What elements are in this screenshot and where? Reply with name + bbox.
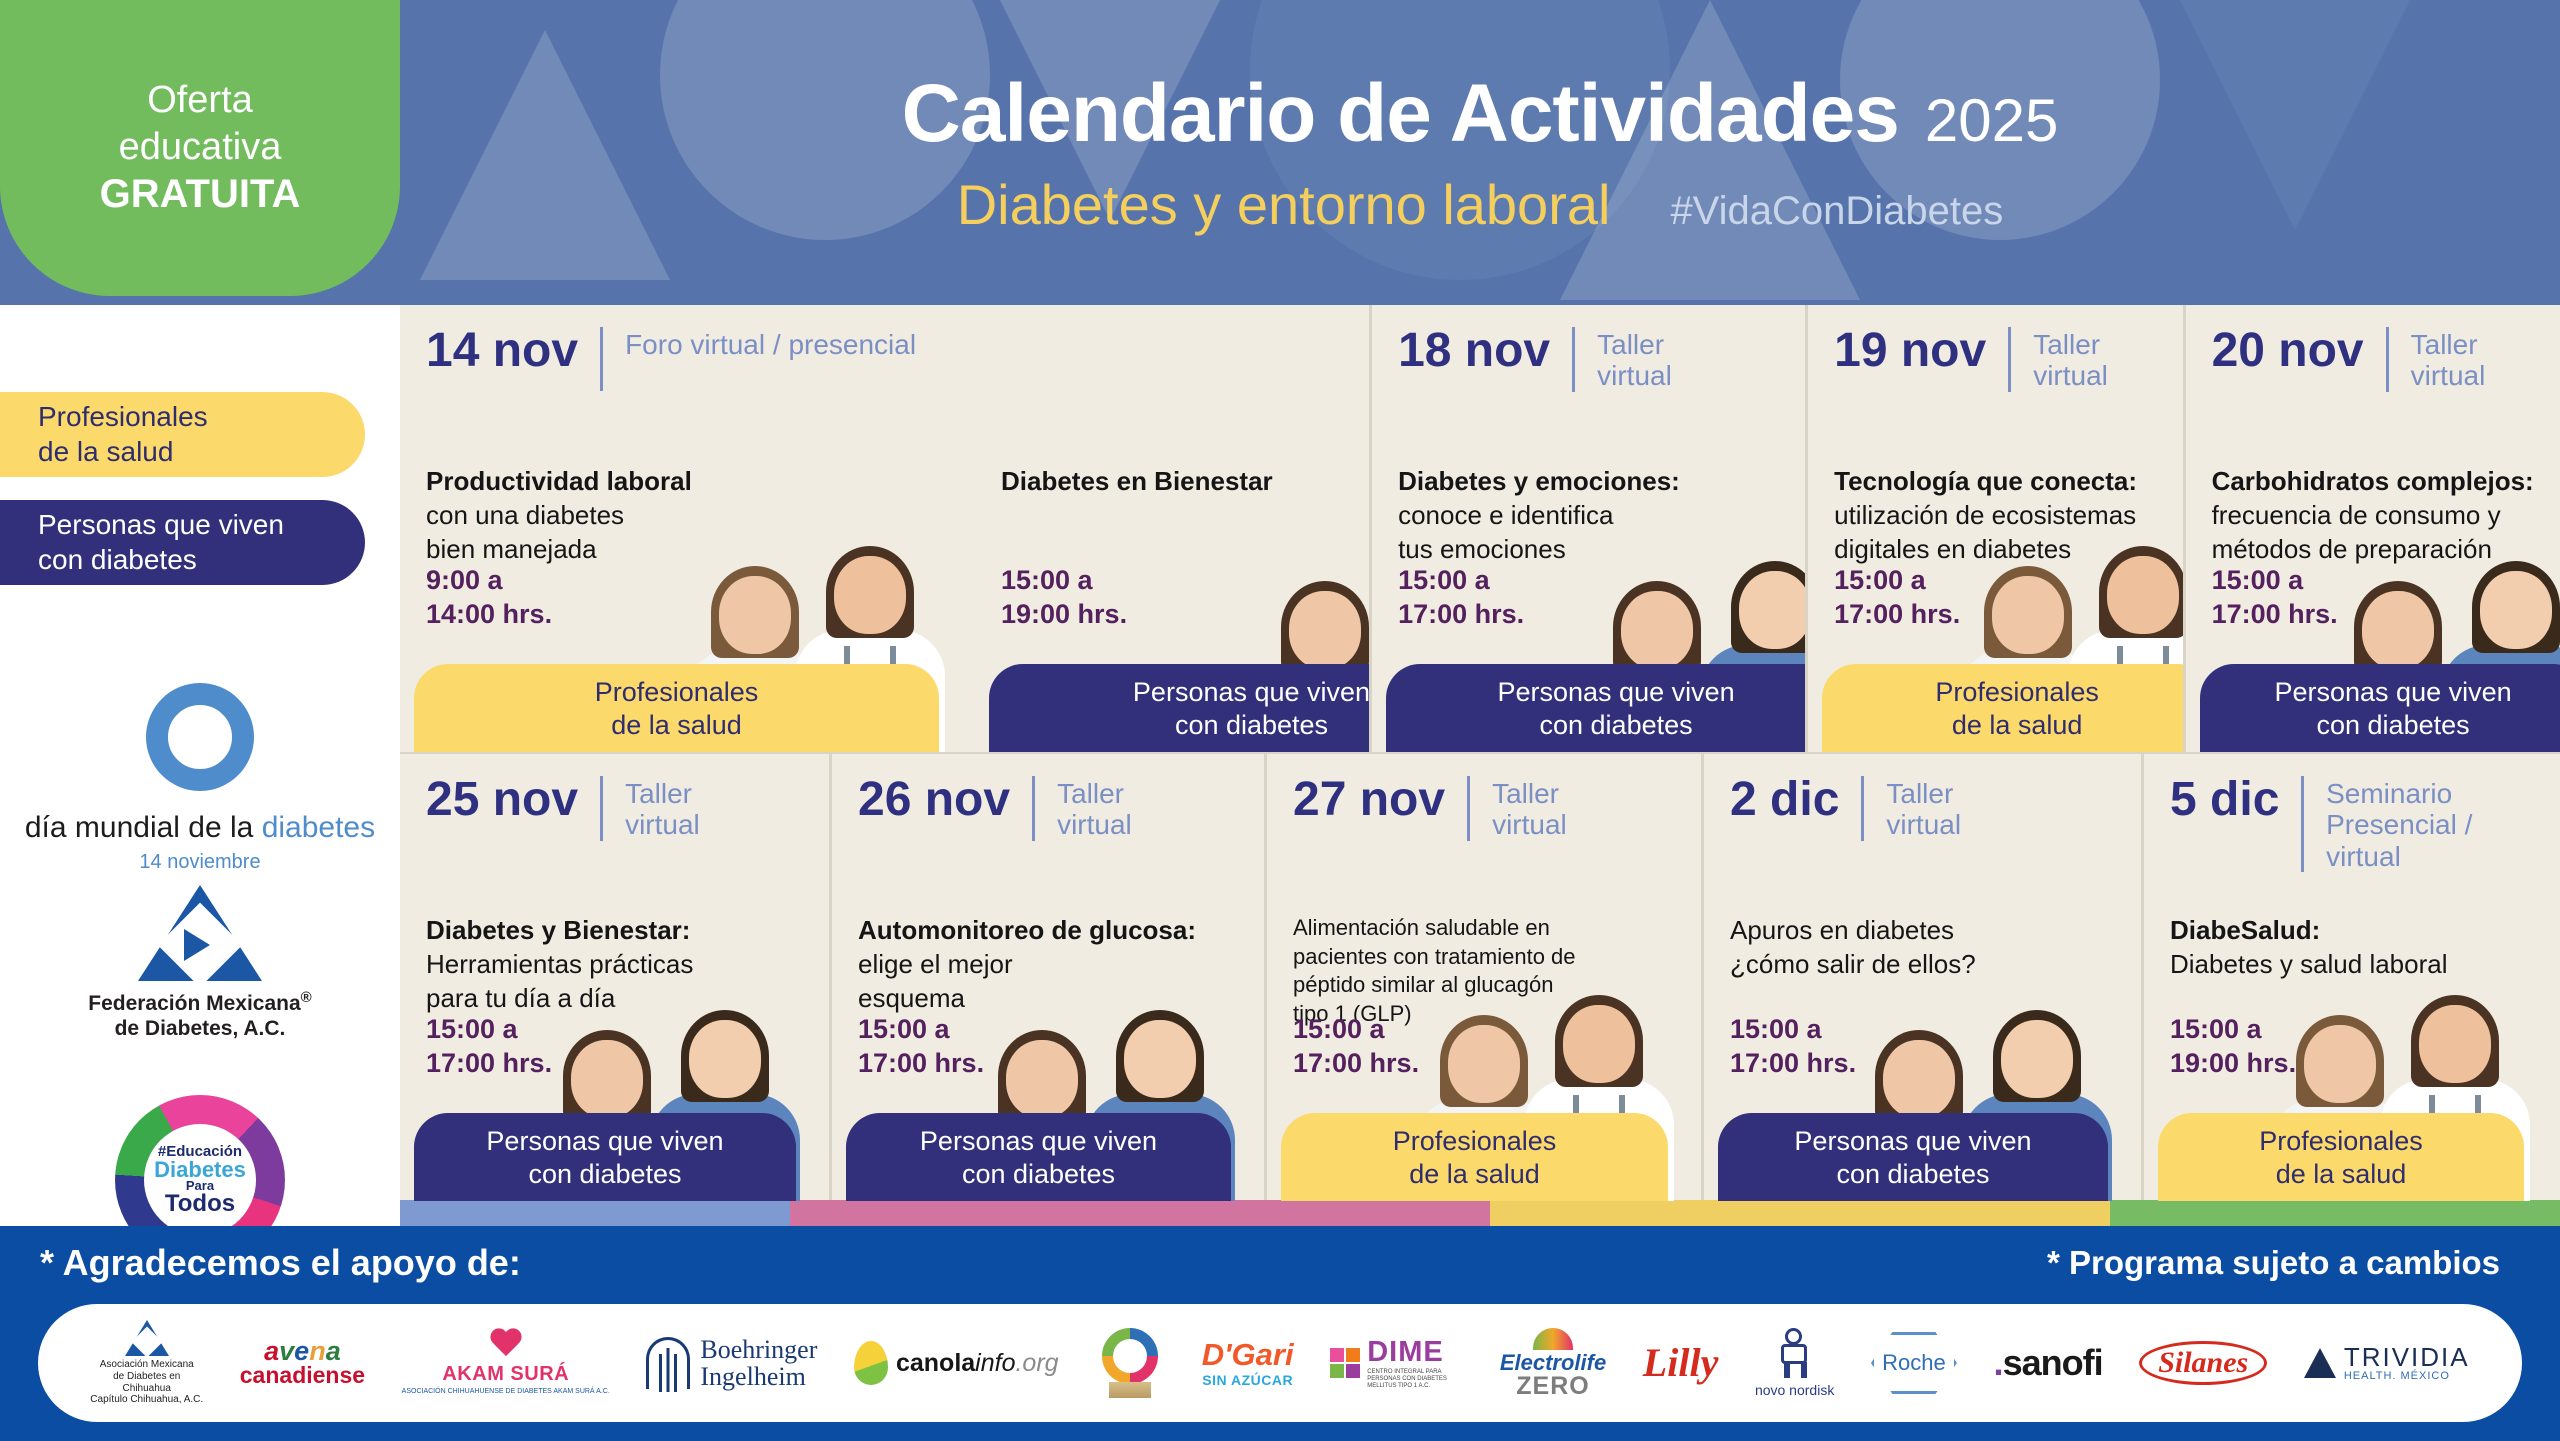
event-title-rest: frecuencia de consumo y métodos de prepa… [2212, 500, 2501, 564]
event-title-rest: conoce e identifica tus emociones [1398, 500, 1613, 564]
character-head [1621, 591, 1693, 669]
event-title-rest: Alimentación saludable en pacientes con … [1293, 915, 1576, 1026]
amdc-l2: de Diabetes en [113, 1371, 180, 1382]
wdd-title: día mundial de la diabetes [25, 811, 375, 845]
event-title: Carbohidratos complejos:frecuencia de co… [2212, 465, 2560, 566]
card-date: 27 nov [1293, 776, 1445, 824]
audience-badge[interactable]: Personas que viven con diabetes [414, 1113, 796, 1201]
wdd-subtitle: 14 noviembre [139, 851, 260, 874]
character-hair [2472, 561, 2560, 653]
world-diabetes-day-logo: día mundial de la diabetes 14 noviembre [0, 683, 400, 874]
character-head [2107, 556, 2179, 634]
dgari-l1: D'Gari [1202, 1339, 1294, 1370]
event-time: 15:00 a 17:00 hrs. [858, 1012, 984, 1081]
character-head [834, 556, 906, 634]
subtitle-row: Diabetes y entorno laboral #VidaConDiabe… [957, 177, 2004, 233]
character-head [571, 1040, 643, 1118]
dime-l1: DIME [1367, 1336, 1463, 1369]
badge-line-1: Oferta [147, 77, 253, 123]
character-hair [1116, 1010, 1204, 1102]
legend-item-people: Personas que viven con diabetes [0, 500, 365, 585]
page-title: Calendario de Actividades [902, 73, 1899, 155]
event-block: Diabetes y emociones:conoce e identifica… [1398, 465, 1808, 566]
character-hair [1984, 566, 2072, 658]
event-block: Apuros en diabetes ¿cómo salir de ellos? [1730, 914, 2122, 982]
event-title-bold: Diabetes y emociones: [1398, 466, 1680, 496]
amdc-l1: Asociación Mexicana [100, 1359, 194, 1370]
audience-badge[interactable]: Personas que viven con diabetes [1386, 664, 1808, 752]
akam-l1: AKAM SURÁ [442, 1363, 569, 1386]
character-head [1006, 1040, 1078, 1118]
audience-badge[interactable]: Profesionales de la salud [2158, 1113, 2524, 1201]
audience-badge[interactable]: Profesionales de la salud [1281, 1113, 1668, 1201]
fmd-line-1: Federación Mexicana [88, 992, 300, 1015]
card-divider [1572, 327, 1575, 392]
sponsor-lilly: Lilly [1643, 1343, 1719, 1383]
character-hair [681, 1010, 769, 1102]
sponsor-avena-canadiense: avena canadiense [240, 1339, 365, 1388]
apis-bull-icon [1775, 1328, 1815, 1380]
canola-seed-icon [854, 1341, 888, 1385]
card-divider [2008, 327, 2011, 392]
title-row: Calendario de Actividades 2025 [902, 73, 2059, 155]
character-head [2362, 591, 2434, 669]
event-title: Diabetes en Bienestar [1001, 465, 1372, 499]
legend-item-professionals: Profesionales de la salud [0, 392, 365, 477]
event-block: Diabetes y Bienestar:Herramientas prácti… [426, 914, 810, 1015]
card-header: 20 novTaller virtual [2212, 327, 2534, 392]
sponsor-logo-bar: Asociación Mexicana de Diabetes en Chihu… [38, 1304, 2522, 1422]
sponsor-escuela [1095, 1324, 1165, 1402]
card-header: 27 novTaller virtual [1293, 776, 1675, 841]
event-time: 15:00 a 17:00 hrs. [1834, 563, 1960, 632]
event-title-rest: utilización de ecosistemas digitales en … [1834, 500, 2136, 564]
page-subtitle: Diabetes y entorno laboral [957, 177, 1611, 233]
roche-l1: Roche [1874, 1332, 1954, 1394]
event-title-bold: Diabetes en Bienestar [1001, 466, 1273, 496]
character-hair [1613, 581, 1701, 673]
boeh-l1: Boehringer [700, 1335, 817, 1364]
amdc-l3: Chihuahua [123, 1383, 171, 1394]
card-divider [1467, 776, 1470, 841]
thanks-label: * Agradecemos el apoyo de: [40, 1242, 521, 1284]
lilly-l1: Lilly [1643, 1343, 1719, 1383]
activity-card[interactable]: 25 novTaller virtualDiabetes y Bienestar… [400, 754, 832, 1201]
legend-label-professionals: Profesionales de la salud [38, 400, 345, 469]
card-date: 5 dic [2170, 776, 2279, 824]
event-title-bold: Productividad laboral [426, 466, 692, 496]
activity-row-2: 25 novTaller virtualDiabetes y Bienestar… [400, 754, 2560, 1201]
card-date: 26 nov [858, 776, 1010, 824]
audience-badge[interactable]: Personas que viven con diabetes [846, 1113, 1231, 1201]
activity-card[interactable]: 5 dicSeminario Presencial / virtualDiabe… [2144, 754, 2560, 1201]
character-head [1448, 1025, 1520, 1103]
canola-l1: canola [896, 1349, 975, 1377]
escuela-emblem-icon [1102, 1328, 1158, 1384]
event-title: Tecnología que conecta:utilización de ec… [1834, 465, 2185, 566]
activity-row-1: 14 novForo virtual / presencialProductiv… [400, 305, 2560, 752]
card-date: 20 nov [2212, 327, 2364, 375]
event-title-bold: Carbohidratos complejos: [2212, 466, 2534, 496]
amdc-triangle-icon [125, 1320, 169, 1356]
activity-card[interactable]: 27 novTaller virtualAlimentación saludab… [1267, 754, 1704, 1201]
edu-line-4: Todos [154, 1192, 246, 1215]
event-title-bold: Diabetes y Bienestar: [426, 915, 690, 945]
badge-line-2: educativa [119, 124, 282, 170]
card-divider [1861, 776, 1864, 841]
card-header: 25 novTaller virtual [426, 776, 803, 841]
sponsor-electrolife-zero: Electrolife ZERO [1500, 1328, 1606, 1399]
character-head [1992, 576, 2064, 654]
sponsor-dime: DIME CENTRO INTEGRAL PARA PERSONAS CON D… [1330, 1336, 1463, 1391]
activity-card[interactable]: 2 dicTaller virtualApuros en diabetes ¿c… [1704, 754, 2144, 1201]
color-strip-segment [400, 1200, 790, 1226]
event-time: 15:00 a 17:00 hrs. [1398, 563, 1524, 632]
silanes-ellipse-icon: Silanes [2139, 1341, 2267, 1385]
title-year: 2025 [1925, 91, 2058, 151]
blue-circle-icon [146, 683, 254, 791]
event-title: Diabetes y Bienestar:Herramientas prácti… [426, 914, 810, 1015]
activity-card[interactable]: 19 novTaller virtualTecnología que conec… [1808, 305, 2185, 752]
character-hair [1440, 1015, 1528, 1107]
card-kind: Foro virtual / presencial [625, 327, 916, 360]
event-title: Diabetes y emociones:conoce e identifica… [1398, 465, 1808, 566]
character-hair [2296, 1015, 2384, 1107]
boeh-l2: Ingelheim [700, 1362, 805, 1391]
sponsor-dgari: D'Gari SIN AZÚCAR [1202, 1339, 1294, 1388]
wdd-title-main: día mundial de la [25, 811, 262, 844]
card-divider [1032, 776, 1035, 841]
card-header: 26 novTaller virtual [858, 776, 1238, 841]
activity-card[interactable]: 14 novForo virtual / presencialProductiv… [400, 305, 1372, 752]
fmd-logo-text: Federación Mexicana® de Diabetes, A.C. [88, 989, 311, 1041]
color-strip [400, 1200, 2560, 1226]
badge-line-3: GRATUITA [100, 170, 301, 219]
card-date: 2 dic [1730, 776, 1839, 824]
card-divider [2386, 327, 2389, 392]
sponsor-akam-sura: AKAM SURÁ ASOCIACIÓN CHIHUAHUENSE DE DIA… [402, 1329, 610, 1396]
character-hair [563, 1030, 651, 1122]
event-title-rest: Apuros en diabetes ¿cómo salir de ellos? [1730, 915, 1976, 979]
fmd-line-2: de Diabetes, A.C. [115, 1017, 286, 1040]
event-block: Diabetes en Bienestar [1001, 465, 1372, 499]
event-title: Productividad laboralcon una diabetes bi… [426, 465, 896, 566]
event-time: 15:00 a 17:00 hrs. [1293, 1012, 1419, 1081]
card-divider [600, 327, 603, 391]
avena-wordmark: avena [264, 1339, 341, 1365]
character-head [2001, 1020, 2073, 1098]
dgari-l2: SIN AZÚCAR [1202, 1372, 1293, 1388]
amdc-l4: Capítulo Chihuahua, A.C. [90, 1394, 203, 1405]
card-header: 18 novTaller virtual [1398, 327, 1779, 392]
event-block: Tecnología que conecta:utilización de ec… [1834, 465, 2185, 566]
event-block: DiabeSalud:Diabetes y salud laboral [2170, 914, 2538, 982]
activity-grid: 14 novForo virtual / presencialProductiv… [400, 305, 2560, 1200]
canola-l3: .org [1015, 1349, 1058, 1377]
card-date: 18 nov [1398, 327, 1550, 375]
card-date: 14 nov [426, 327, 578, 375]
character-head [689, 1020, 761, 1098]
electrolife-burst-icon [1533, 1328, 1573, 1350]
card-kind: Taller virtual [1492, 776, 1567, 841]
card-header: 5 dicSeminario Presencial / virtual [2170, 776, 2534, 872]
elec-l1: Electrolife [1500, 1352, 1606, 1374]
card-date: 25 nov [426, 776, 578, 824]
character-head [2419, 1005, 2491, 1083]
legend-label-people: Personas que viven con diabetes [38, 508, 345, 577]
registered-mark: ® [301, 989, 312, 1006]
character-head [1883, 1040, 1955, 1118]
card-kind: Taller virtual [1597, 327, 1672, 392]
dime-squares-icon [1330, 1348, 1360, 1378]
card-header: 14 novForo virtual / presencial [426, 327, 1343, 391]
triv-l1: TRIVIDIA [2344, 1344, 2470, 1370]
novo-l1: novo nordisk [1755, 1382, 1834, 1398]
event-time: 15:00 a 19:00 hrs. [2170, 1012, 2296, 1081]
sponsor-boehringer-ingelheim: Boehringer Ingelheim [646, 1336, 817, 1390]
wdd-title-accent: diabetes [262, 811, 375, 844]
event-block: Productividad laboralcon una diabetes bi… [426, 465, 953, 566]
color-strip-segment [1490, 1200, 2110, 1226]
sponsor-novo-nordisk: novo nordisk [1755, 1328, 1834, 1398]
activity-card[interactable]: 18 novTaller virtualDiabetes y emociones… [1372, 305, 1808, 752]
character-head [719, 576, 791, 654]
event-time: 15:00 a 19:00 hrs. [1001, 563, 1127, 632]
character-hair [2354, 581, 2442, 673]
character-hair [2411, 995, 2499, 1087]
activity-card[interactable]: 20 novTaller virtualCarbohidratos comple… [2186, 305, 2560, 752]
character-hair [1993, 1010, 2081, 1102]
character-hair [998, 1030, 1086, 1122]
audience-badge[interactable]: Profesionales de la salud [414, 664, 939, 752]
event-time: 9:00 a 14:00 hrs. [426, 563, 552, 632]
sponsor-amdc: Asociación Mexicana de Diabetes en Chihu… [90, 1320, 203, 1406]
hashtag: #VidaConDiabetes [1670, 191, 2003, 231]
character-hair [711, 566, 799, 658]
event-title-bold: Automonitoreo de glucosa: [858, 915, 1196, 945]
character-hair [1731, 561, 1808, 653]
event-time: 15:00 a 17:00 hrs. [426, 1012, 552, 1081]
card-header: 19 novTaller virtual [1834, 327, 2156, 392]
event-title-rest: con una diabetes bien manejada [426, 500, 624, 564]
card-divider [2301, 776, 2304, 872]
subject-to-change-label: * Programa sujeto a cambios [2047, 1244, 2500, 1282]
footer: * Agradecemos el apoyo de: * Programa su… [0, 1226, 2560, 1441]
trividia-triangle-icon [2304, 1348, 2336, 1378]
event-block: Carbohidratos complejos:frecuencia de co… [2212, 465, 2560, 566]
sponsor-trividia: TRIVIDIA HEALTH. MÉXICO [2304, 1344, 2470, 1382]
card-kind: Seminario Presencial / virtual [2326, 776, 2534, 872]
edu-line-2: Diabetes [154, 1159, 246, 1180]
card-kind: Taller virtual [1057, 776, 1132, 841]
event-title-rest: Herramientas prácticas para tu día a día [426, 949, 693, 1013]
card-kind: Taller virtual [625, 776, 700, 841]
sanofi-l1: sanofi [2003, 1342, 2103, 1383]
event-time: 15:00 a 17:00 hrs. [2212, 563, 2338, 632]
akam-l2: ASOCIACIÓN CHIHUAHUENSE DE DIABETES AKAM… [402, 1388, 610, 1396]
character-head [1289, 591, 1361, 669]
sponsor-silanes: Silanes [2139, 1341, 2267, 1385]
silanes-l1: Silanes [2158, 1348, 2248, 1378]
dime-l2: CENTRO INTEGRAL PARA PERSONAS CON DIABET… [1367, 1369, 1463, 1391]
sponsor-sanofi: .sanofi [1994, 1345, 2103, 1381]
sponsor-canolainfo: canolainfo.org [854, 1341, 1059, 1385]
event-title: Apuros en diabetes ¿cómo salir de ellos? [1730, 914, 2122, 982]
audience-badge[interactable]: Personas que viven con diabetes [989, 664, 1372, 752]
character-hair [1281, 581, 1369, 673]
elec-l2: ZERO [1516, 1374, 1589, 1399]
roche-hexagon-icon: Roche [1871, 1332, 1957, 1394]
card-divider [600, 776, 603, 841]
event-title: DiabeSalud:Diabetes y salud laboral [2170, 914, 2538, 982]
character-head [2304, 1025, 2376, 1103]
character-head [2480, 571, 2552, 649]
event-title-bold: Tecnología que conecta: [1834, 466, 2137, 496]
color-strip-segment [790, 1200, 1490, 1226]
color-strip-segment [2110, 1200, 2560, 1226]
poster-root: Calendario de Actividades 2025 Diabetes … [0, 0, 2560, 1441]
card-kind: Taller virtual [2033, 327, 2108, 392]
triangle-icon [138, 885, 262, 981]
character-head [1124, 1020, 1196, 1098]
fmd-logo: Federación Mexicana® de Diabetes, A.C. [0, 885, 400, 1041]
card-header: 2 dicTaller virtual [1730, 776, 2115, 841]
activity-card[interactable]: 26 novTaller virtualAutomonitoreo de glu… [832, 754, 1267, 1201]
event-title-rest: elige el mejor esquema [858, 949, 1013, 1013]
boehringer-mark-icon [646, 1337, 690, 1389]
event-title: Automonitoreo de glucosa: elige el mejor… [858, 914, 1245, 1015]
sponsor-roche: Roche [1871, 1332, 1957, 1394]
event-title-bold: DiabeSalud: [2170, 915, 2320, 945]
sidebar: Profesionales de la salud Personas que v… [0, 305, 400, 1200]
card-kind: Taller virtual [1886, 776, 1961, 841]
canola-l2: info [975, 1349, 1015, 1377]
free-offer-badge: Oferta educativa GRATUITA [0, 0, 400, 296]
audience-badge[interactable]: Personas que viven con diabetes [2200, 664, 2560, 752]
audience-badge[interactable]: Personas que viven con diabetes [1718, 1113, 2108, 1201]
event-block: Automonitoreo de glucosa: elige el mejor… [858, 914, 1245, 1015]
character-head [1739, 571, 1808, 649]
event-time: 15:00 a 17:00 hrs. [1730, 1012, 1856, 1081]
character-hair [1875, 1030, 1963, 1122]
event-title-rest: Diabetes y salud laboral [2170, 949, 2448, 979]
avena-l2: canadiense [240, 1364, 365, 1387]
audience-badge[interactable]: Profesionales de la salud [1822, 664, 2185, 752]
heart-icon [489, 1329, 523, 1361]
card-date: 19 nov [1834, 327, 1986, 375]
card-kind: Taller virtual [2411, 327, 2486, 392]
header-text-block: Calendario de Actividades 2025 Diabetes … [400, 0, 2560, 305]
